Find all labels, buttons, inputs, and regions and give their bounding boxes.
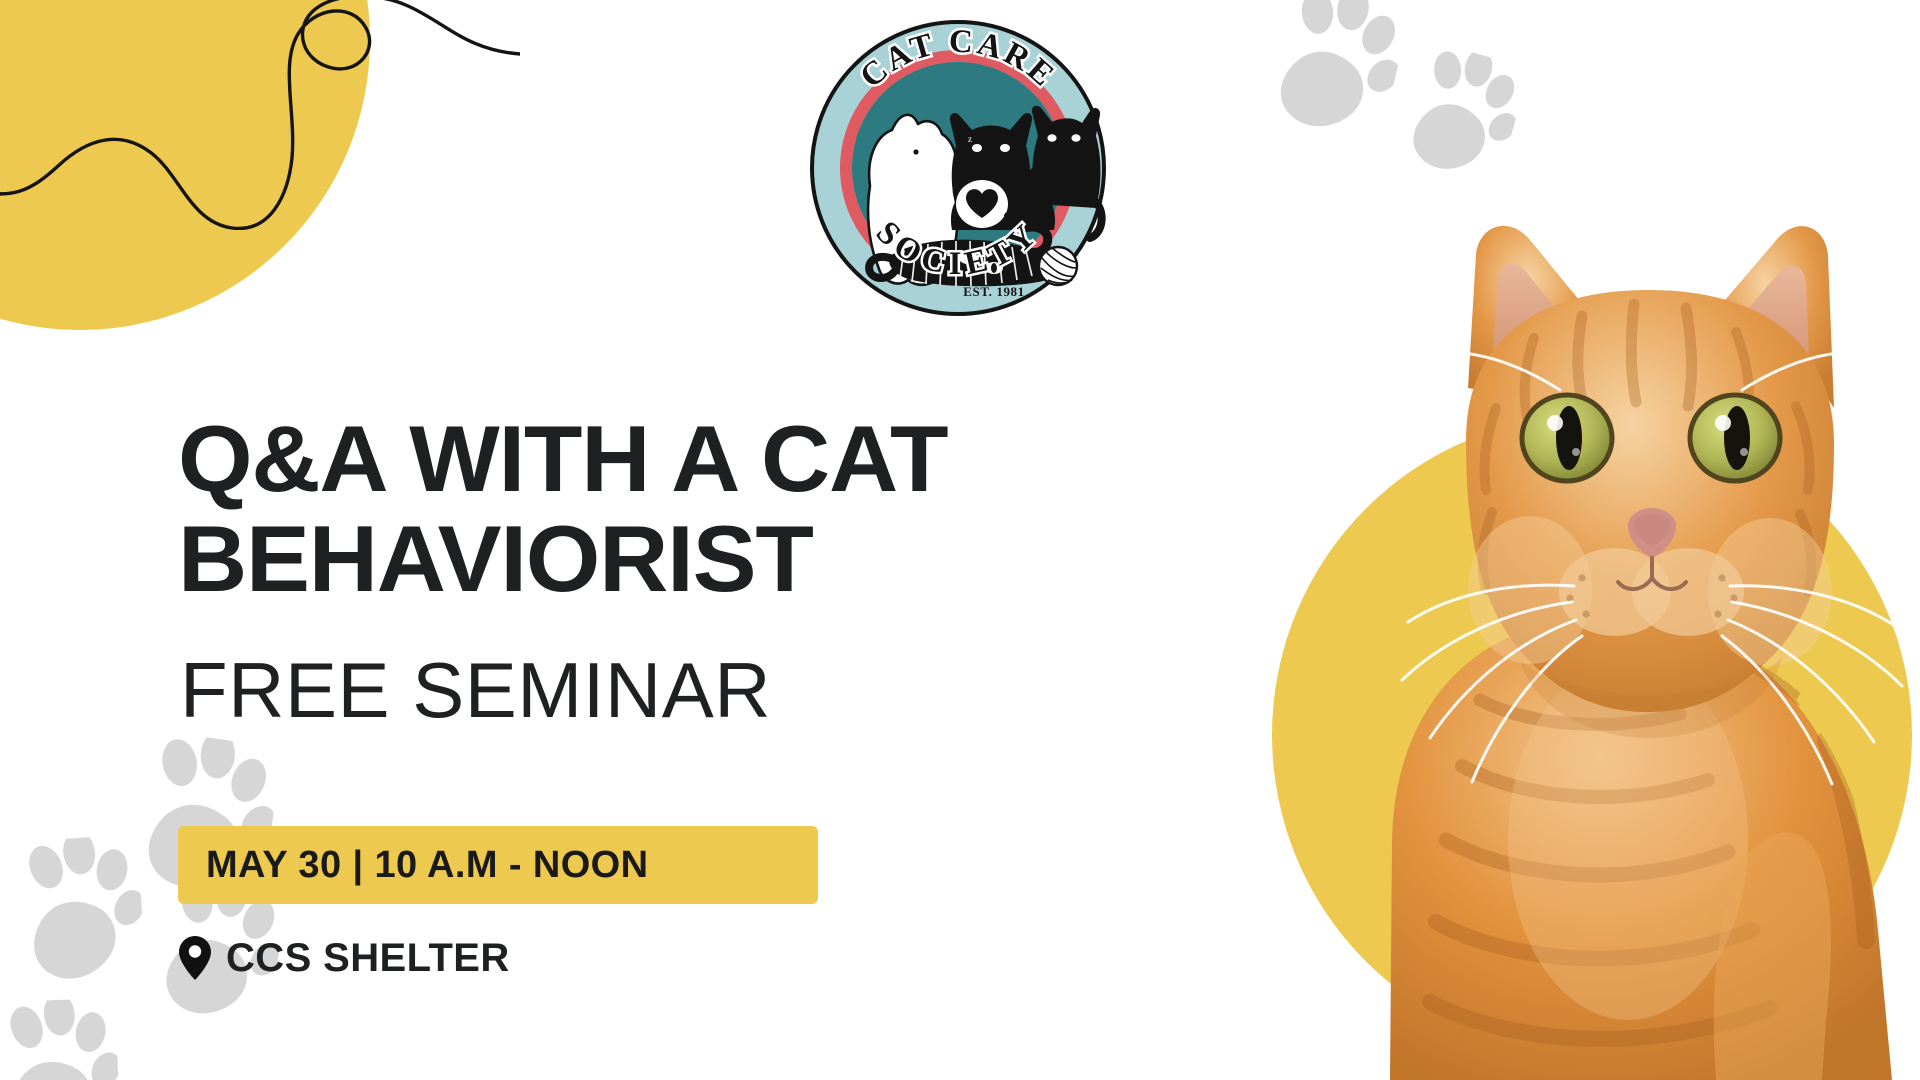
poster-canvas: z xyxy=(0,0,1920,1080)
map-pin-icon xyxy=(178,935,212,981)
page-title: Q&A WITH A CAT BEHAVIORIST xyxy=(178,412,1138,612)
headline-line-2: BEHAVIORIST xyxy=(178,512,1157,606)
svg-text:z: z xyxy=(968,134,972,144)
location-text: CCS SHELTER xyxy=(226,936,510,981)
yellow-blob-decoration xyxy=(0,0,370,330)
location-row: CCS SHELTER xyxy=(178,935,510,981)
headline-line-1: Q&A WITH A CAT xyxy=(178,412,1157,506)
cat-photograph xyxy=(1230,140,1920,1080)
cat-care-society-logo: z xyxy=(808,18,1108,318)
paw-print-icon xyxy=(0,998,121,1080)
paw-print-icon xyxy=(15,834,147,994)
logo-established-text: EST. 1981 xyxy=(963,284,1025,299)
subtitle: FREE SEMINAR xyxy=(180,645,771,736)
date-time-text: MAY 30 | 10 A.M - NOON xyxy=(206,844,648,887)
date-time-banner: MAY 30 | 10 A.M - NOON xyxy=(178,826,818,904)
paw-print-icon xyxy=(1260,0,1413,154)
